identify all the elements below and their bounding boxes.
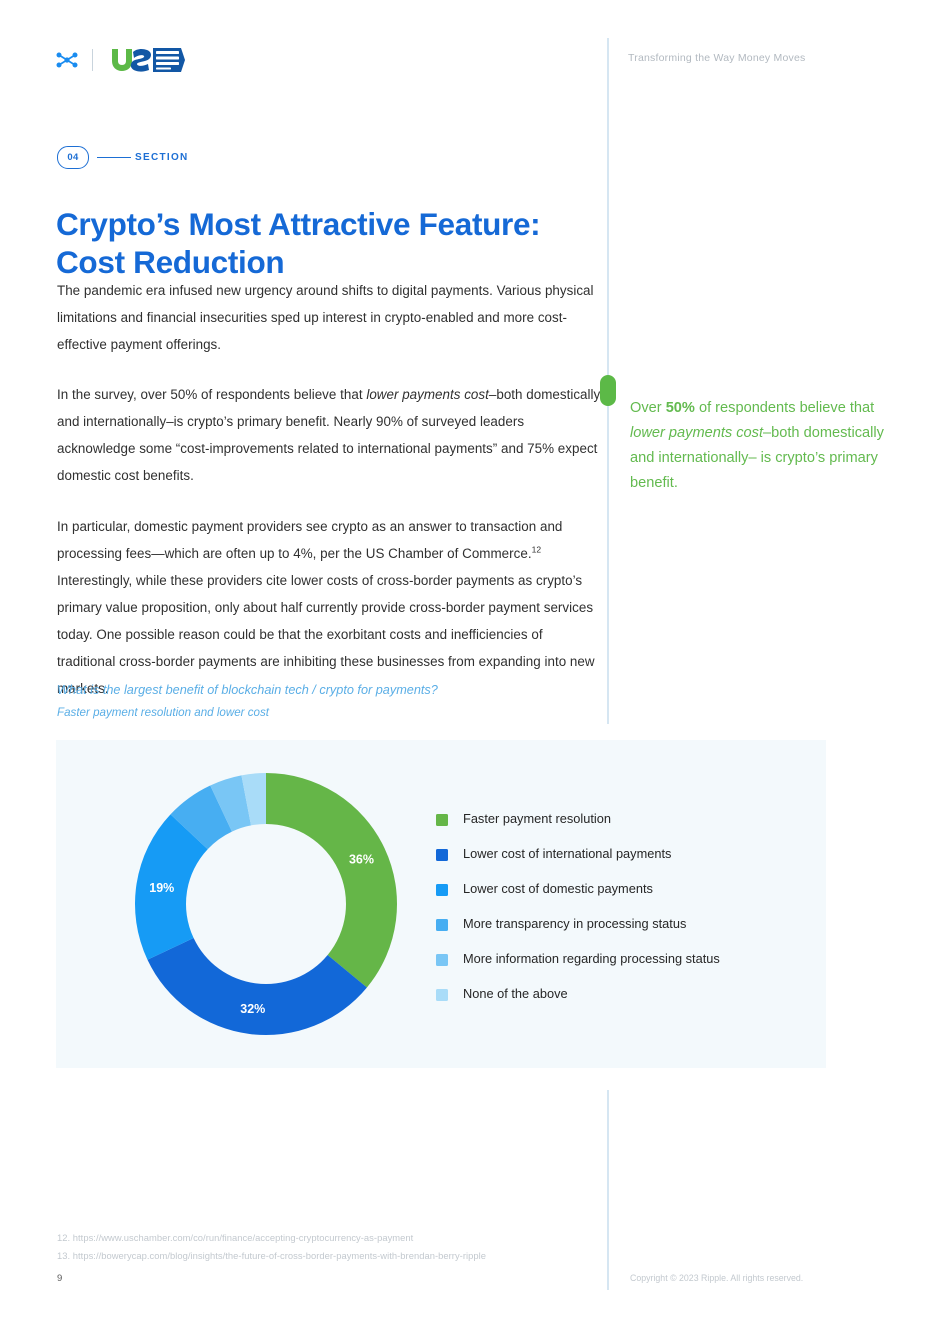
chart-caption: What is the largest benefit of blockchai… xyxy=(57,679,597,723)
paragraph-1: The pandemic era infused new urgency aro… xyxy=(57,277,602,358)
pullquote-part-b: of respondents believe that xyxy=(695,400,874,416)
footnote-13[interactable]: 13. https://bowerycap.com/blog/insights/… xyxy=(57,1247,617,1265)
footnotes: 12. https://www.uschamber.com/co/run/fin… xyxy=(57,1229,617,1265)
chart-legend: Faster payment resolutionLower cost of i… xyxy=(436,802,796,1012)
header-tagline: Transforming the Way Money Moves xyxy=(628,52,806,64)
legend-item-label: Lower cost of international payments xyxy=(463,848,671,861)
logo-divider xyxy=(92,49,93,71)
pullquote-marker xyxy=(600,375,616,406)
pullquote-italic: lower payments cost xyxy=(630,425,763,441)
section-label: SECTION xyxy=(135,152,189,163)
p2-emphasis: lower payments cost xyxy=(366,387,489,402)
section-rule xyxy=(97,157,131,159)
donut-slice xyxy=(266,773,397,988)
section-eyebrow: 04 SECTION xyxy=(57,146,189,169)
donut-slice-label: 19% xyxy=(149,881,174,895)
donut-chart: 36%32%19% xyxy=(124,762,408,1046)
legend-swatch-icon xyxy=(436,919,448,931)
legend-item-label: Faster payment resolution xyxy=(463,813,611,826)
body-column: The pandemic era infused new urgency aro… xyxy=(57,277,602,725)
chart-question-text: What is the largest benefit of blockchai… xyxy=(57,679,597,702)
page-title: Crypto’s Most Attractive Feature: Cost R… xyxy=(56,206,616,281)
legend-item: More transparency in processing status xyxy=(436,907,796,942)
legend-swatch-icon xyxy=(436,954,448,966)
copyright-notice: Copyright © 2023 Ripple. All rights rese… xyxy=(630,1273,803,1283)
p3-text-b: Interestingly, while these providers cit… xyxy=(57,573,595,696)
page-number: 9 xyxy=(57,1273,62,1284)
p3-text-a: In particular, domestic payment provider… xyxy=(57,519,562,561)
legend-item-label: More transparency in processing status xyxy=(463,918,686,931)
legend-item: None of the above xyxy=(436,977,796,1012)
section-number-badge: 04 xyxy=(57,146,89,169)
paragraph-2: In the survey, over 50% of respondents b… xyxy=(57,381,602,489)
legend-item-label: Lower cost of domestic payments xyxy=(463,883,653,896)
legend-item-label: More information regarding processing st… xyxy=(463,953,720,966)
footnote-marker-12[interactable]: 12 xyxy=(532,544,542,554)
legend-item: Faster payment resolution xyxy=(436,802,796,837)
logo-group xyxy=(56,46,185,74)
p2-text-a: In the survey, over 50% of respondents b… xyxy=(57,387,366,402)
legend-item: Lower cost of international payments xyxy=(436,837,796,872)
legend-item: Lower cost of domestic payments xyxy=(436,872,796,907)
footnote-12[interactable]: 12. https://www.uschamber.com/co/run/fin… xyxy=(57,1229,617,1247)
donut-slice-label: 36% xyxy=(349,853,374,867)
pullquote-emphasis: 50% xyxy=(666,400,695,416)
legend-swatch-icon xyxy=(436,849,448,861)
page-header: Transforming the Way Money Moves xyxy=(0,38,936,84)
legend-swatch-icon xyxy=(436,814,448,826)
legend-swatch-icon xyxy=(436,989,448,1001)
us-faster-payments-council-logo xyxy=(107,46,185,74)
paragraph-3: In particular, domestic payment provider… xyxy=(57,513,602,703)
chart-panel: 36%32%19% Faster payment resolutionLower… xyxy=(56,740,826,1068)
chart-answer-text: Faster payment resolution and lower cost xyxy=(57,702,597,723)
pullquote-part-a: Over xyxy=(630,400,666,416)
legend-item: More information regarding processing st… xyxy=(436,942,796,977)
donut-slice-label: 32% xyxy=(240,1002,265,1016)
legend-item-label: None of the above xyxy=(463,988,568,1001)
ripple-logo-icon xyxy=(56,51,78,69)
pullquote: Over 50% of respondents believe that low… xyxy=(630,396,908,496)
legend-swatch-icon xyxy=(436,884,448,896)
